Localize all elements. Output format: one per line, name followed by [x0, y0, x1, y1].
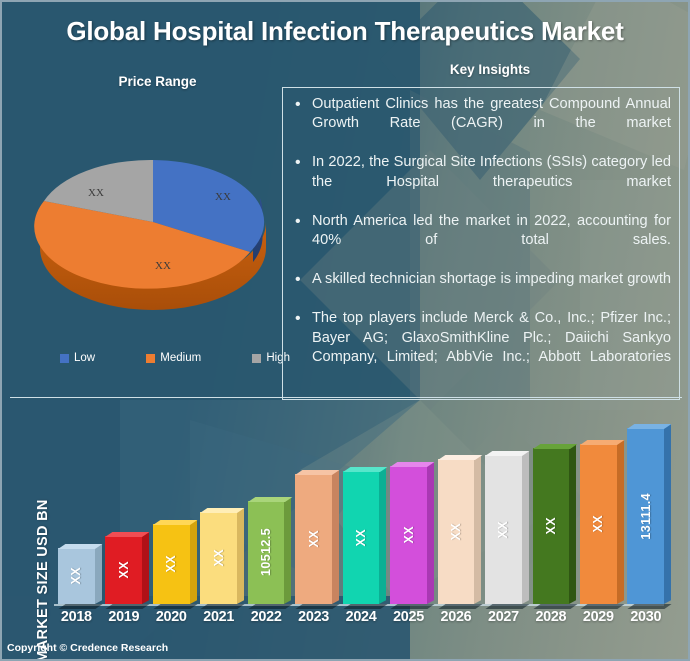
bar-column: XX [295, 474, 332, 604]
year-label-2025: 2025 [390, 609, 427, 625]
bar-2019: XX [105, 536, 142, 604]
bar-front-face: XX [343, 471, 380, 604]
bar-front-face: XX [533, 448, 570, 604]
bar-side-face [332, 470, 339, 604]
bar-side-face [664, 425, 671, 604]
bar-column: 10512.5 [248, 501, 285, 604]
year-label-2021: 2021 [200, 609, 237, 625]
bar-column: XX [105, 536, 142, 604]
bar-value-label: XX [591, 515, 605, 532]
bar-2018: XX [58, 548, 95, 604]
bar-chart-x-axis-labels: 2018201920202021202220232024202520262027… [58, 609, 664, 625]
bar-value-label: XX [402, 526, 416, 543]
bar-value-label: 10512.5 [259, 528, 273, 576]
bar-front-face: XX [200, 512, 237, 604]
pie-svg: XX XX XX [28, 126, 278, 311]
bar-chart-bars: XXXXXXXX10512.5XXXXXXXXXXXXXX13111.4 [58, 415, 664, 604]
key-insights-heading: Key Insights [290, 62, 690, 77]
bar-front-face: 10512.5 [248, 501, 285, 604]
year-label-2018: 2018 [58, 609, 95, 625]
bar-2029: XX [580, 444, 617, 604]
pie-label-low: XX [215, 191, 231, 203]
bar-front-face: XX [105, 536, 142, 604]
year-label-2020: 2020 [153, 609, 190, 625]
bar-2027: XX [485, 455, 522, 604]
bar-front-face: XX [295, 474, 332, 604]
year-label-2022: 2022 [248, 609, 285, 625]
pie-legend-swatch-icon [146, 354, 155, 363]
price-range-heading: Price Range [60, 74, 255, 89]
year-label-2026: 2026 [438, 609, 475, 625]
pie-legend-swatch-icon [252, 354, 261, 363]
price-range-pie-chart: XX XX XX [28, 126, 278, 311]
bar-column: XX [58, 548, 95, 604]
bar-top-face [533, 444, 577, 449]
bar-column: XX [200, 512, 237, 604]
bar-side-face [474, 456, 481, 604]
year-label-2023: 2023 [295, 609, 332, 625]
pie-legend-swatch-icon [60, 354, 69, 363]
year-label-2029: 2029 [580, 609, 617, 625]
bar-2024: XX [343, 471, 380, 604]
pie-legend-label: Medium [160, 352, 201, 364]
bar-top-face [153, 520, 197, 525]
key-insights-list: Outpatient Clinics has the greatest Comp… [287, 95, 671, 387]
bar-column: XX [485, 455, 522, 604]
bar-front-face: XX [438, 459, 475, 604]
bar-column: XX [153, 524, 190, 604]
bar-side-face [617, 440, 624, 604]
bar-value-label: XX [164, 555, 178, 572]
market-size-bar-chart: MARKET SIZE USD BN XXXXXXXX10512.5XXXXXX… [0, 405, 690, 661]
bar-front-face: XX [390, 466, 427, 604]
bar-column: XX [438, 459, 475, 604]
year-label-2028: 2028 [533, 609, 570, 625]
key-insight-item: A skilled technician shortage is impedin… [287, 270, 671, 309]
pie-legend-item: Low [60, 352, 95, 364]
bar-value-label: XX [212, 549, 226, 566]
bar-2022: 10512.5 [248, 501, 285, 604]
bar-side-face [379, 467, 386, 604]
bar-front-face: XX [485, 455, 522, 604]
bar-chart-y-axis-label: MARKET SIZE USD BN [35, 486, 51, 661]
bar-value-label: 13111.4 [639, 493, 653, 540]
infographic-canvas: Global Hospital Infection Therapeutics M… [0, 0, 690, 661]
pie-label-medium: XX [155, 260, 171, 272]
bar-front-face: 13111.4 [627, 428, 664, 604]
copyright-text: Copyright © Credence Research [7, 642, 168, 654]
bar-column: XX [390, 466, 427, 604]
bar-top-face [580, 440, 624, 445]
bar-value-label: XX [544, 517, 558, 534]
pie-legend-label: Low [74, 352, 95, 364]
bar-column: XX [343, 471, 380, 604]
key-insight-item: North America led the market in 2022, ac… [287, 212, 671, 270]
bar-front-face: XX [58, 548, 95, 604]
bar-column: XX [580, 444, 617, 604]
bar-top-face [295, 470, 339, 475]
bar-side-face [95, 545, 102, 604]
bar-top-face [485, 451, 529, 456]
key-insights-box: Outpatient Clinics has the greatest Comp… [282, 87, 680, 400]
year-label-2024: 2024 [343, 609, 380, 625]
bar-value-label: XX [307, 530, 321, 547]
year-label-2030: 2030 [627, 609, 664, 625]
bar-value-label: XX [69, 567, 83, 584]
bar-value-label: XX [496, 521, 510, 538]
bar-2021: XX [200, 512, 237, 604]
section-divider [10, 397, 682, 398]
bar-2023: XX [295, 474, 332, 604]
bar-side-face [142, 532, 149, 604]
bar-top-face [200, 508, 244, 513]
bar-side-face [569, 445, 576, 604]
year-label-2019: 2019 [105, 609, 142, 625]
page-title: Global Hospital Infection Therapeutics M… [0, 16, 690, 47]
bar-2028: XX [533, 448, 570, 604]
key-insight-item: Outpatient Clinics has the greatest Comp… [287, 95, 671, 153]
bar-side-face [190, 520, 197, 604]
bar-side-face [522, 451, 529, 604]
key-insight-item: In 2022, the Surgical Site Infections (S… [287, 153, 671, 211]
bar-column: 13111.4 [627, 428, 664, 604]
bar-side-face [427, 462, 434, 604]
bar-2030: 13111.4 [627, 428, 664, 604]
bar-2025: XX [390, 466, 427, 604]
key-insight-item: The top players include Merck & Co., Inc… [287, 309, 671, 387]
bar-value-label: XX [449, 523, 463, 540]
bar-top-face [343, 467, 387, 472]
bar-2020: XX [153, 524, 190, 604]
bar-value-label: XX [354, 529, 368, 546]
pie-label-high: XX [88, 187, 104, 199]
bar-front-face: XX [153, 524, 190, 604]
pie-legend: LowMediumHigh [60, 352, 290, 364]
pie-legend-item: Medium [146, 352, 201, 364]
bar-2026: XX [438, 459, 475, 604]
bar-side-face [237, 508, 244, 604]
bar-top-face [248, 497, 292, 502]
bar-column: XX [533, 448, 570, 604]
bar-value-label: XX [117, 561, 131, 578]
bar-front-face: XX [580, 444, 617, 604]
year-label-2027: 2027 [485, 609, 522, 625]
bar-side-face [284, 497, 291, 604]
